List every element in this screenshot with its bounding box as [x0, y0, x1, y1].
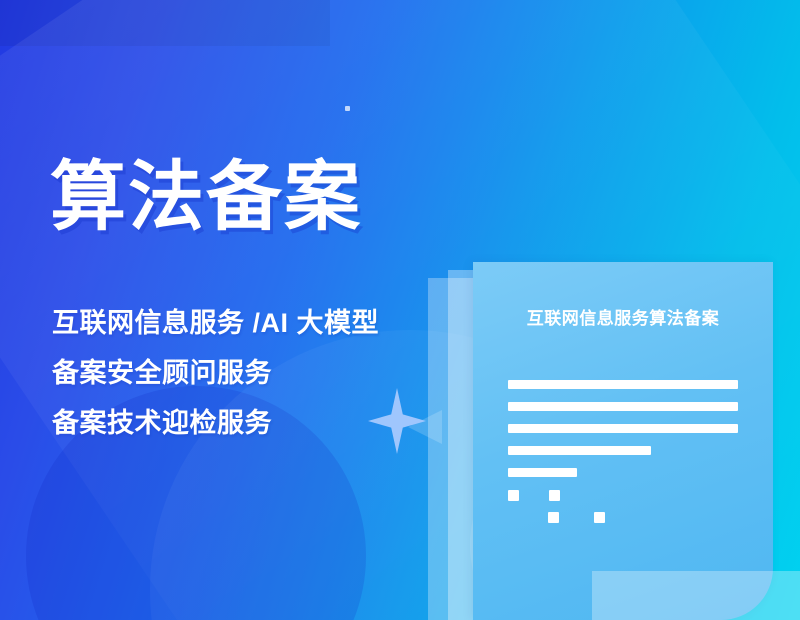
document-text-line: [508, 446, 651, 455]
document-text-line: [508, 380, 738, 389]
document-text-line: [508, 468, 577, 477]
service-list-item: 备案安全顾问服务: [52, 348, 452, 398]
document-block: [594, 512, 605, 523]
document-block: [548, 512, 559, 523]
document-block-row: [508, 490, 738, 501]
algorithm-filing-banner: 算法备案 互联网信息服务 /AI 大模型 备案安全顾问服务 备案技术迎检服务 互…: [0, 0, 800, 620]
document-card-back-layer-1: [448, 270, 638, 620]
document-card: 互联网信息服务算法备案: [473, 262, 773, 620]
service-list-item: 备案技术迎检服务: [52, 398, 452, 448]
document-card-back-layer-2: [428, 278, 618, 620]
bottom-right-panel: [592, 571, 800, 620]
document-block-row: [548, 512, 738, 523]
page-title: 算法备案: [50, 152, 362, 244]
document-text-line: [508, 402, 738, 411]
service-list: 互联网信息服务 /AI 大模型 备案安全顾问服务 备案技术迎检服务: [52, 298, 452, 448]
service-list-item: 互联网信息服务 /AI 大模型: [52, 298, 452, 348]
document-card-title: 互联网信息服务算法备案: [473, 304, 773, 329]
background-top-band: [0, 0, 330, 46]
document-text-line: [508, 424, 738, 433]
document-text-lines: [508, 380, 738, 534]
background-circle-cyan: [470, 430, 700, 620]
document-block: [508, 490, 519, 501]
document-block: [549, 490, 560, 501]
sparkle-dot-icon: [345, 106, 350, 111]
